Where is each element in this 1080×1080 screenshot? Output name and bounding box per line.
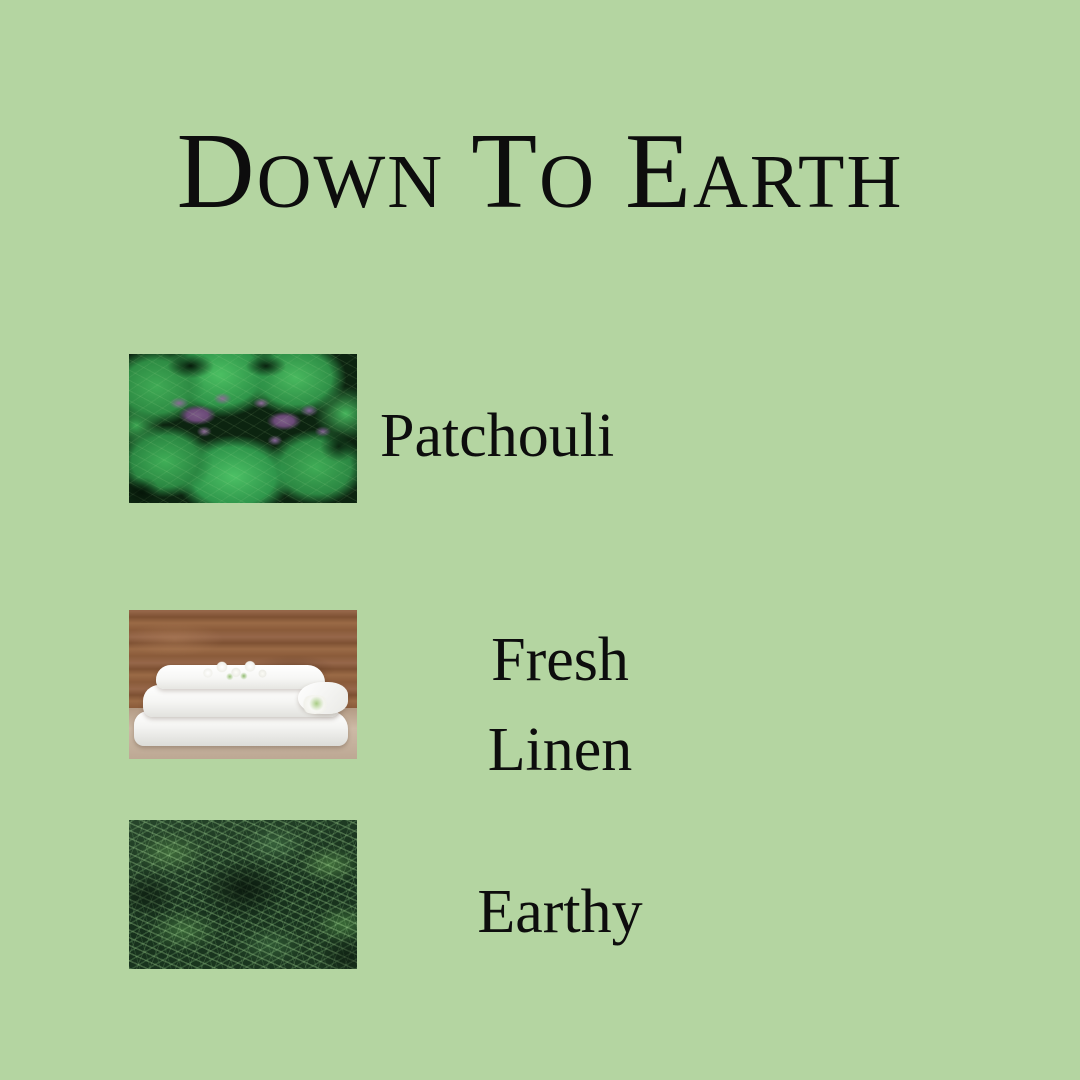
scent-board: Down To Earth Patchouli Fresh Linen [0, 0, 1080, 1080]
list-item: Fresh Linen [0, 610, 1080, 770]
scent-label-patchouli: Patchouli [380, 392, 710, 482]
page-title: Down To Earth [0, 118, 1080, 226]
shadow-overlay [129, 820, 357, 969]
white-flowers-cluster [197, 655, 275, 685]
patchouli-photo-base [129, 354, 357, 503]
patchouli-plant-photo [129, 354, 357, 503]
fern-photo-base [129, 820, 357, 969]
list-item: Earthy [0, 820, 1080, 980]
fern-foliage-photo [129, 820, 357, 969]
scent-label-fresh-linen: Fresh Linen [400, 616, 720, 796]
list-item: Patchouli [0, 354, 1080, 514]
linen-photo-base [129, 610, 357, 759]
shadow-overlay [129, 354, 357, 503]
fresh-linen-photo [129, 610, 357, 759]
white-flower-single [300, 695, 330, 714]
scent-label-earthy: Earthy [400, 868, 720, 958]
